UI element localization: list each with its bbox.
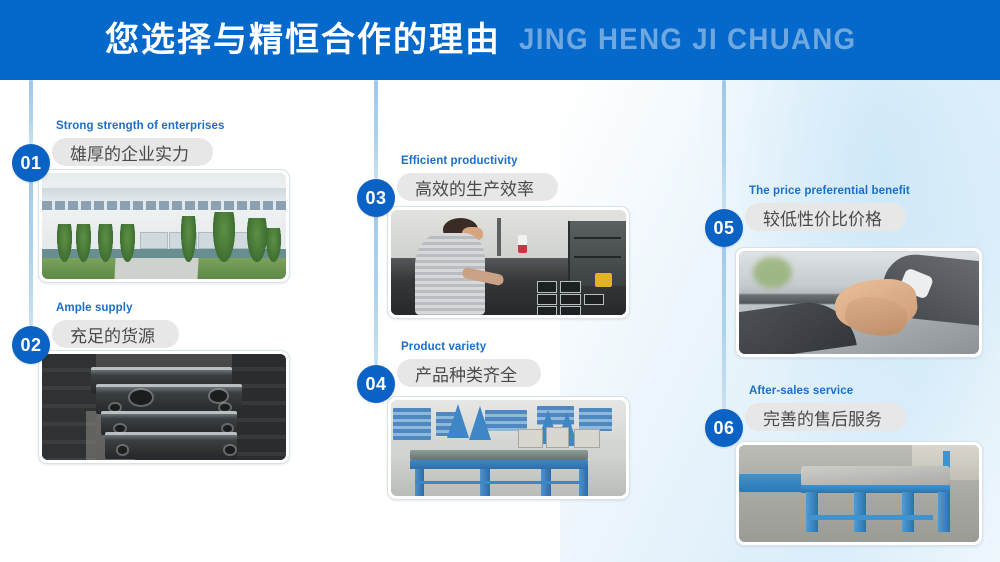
feature-photo-06[interactable] <box>735 441 983 546</box>
feature-english-label-01: Strong strength of enterprises <box>56 120 225 132</box>
feature-photo-02[interactable] <box>38 350 290 464</box>
connector-rail-column-2 <box>374 80 378 179</box>
feature-photo-01[interactable] <box>38 169 290 283</box>
feature-number-badge-01: 01 <box>12 144 50 182</box>
feature-number-badge-05: 05 <box>705 209 743 247</box>
feature-chinese-label-01: 雄厚的企业实力 <box>52 138 213 166</box>
banner-title-english: JING HENG JI CHUANG <box>519 25 857 55</box>
header-banner: 您选择与精恒合作的理由 JING HENG JI CHUANG <box>0 0 1000 80</box>
feature-photo-05[interactable] <box>735 247 983 358</box>
factory-building-photo <box>42 173 286 279</box>
feature-number-badge-02: 02 <box>12 326 50 364</box>
header-banner-content: 您选择与精恒合作的理由 JING HENG JI CHUANG <box>105 0 886 80</box>
feature-chinese-label-04: 产品种类齐全 <box>397 359 541 387</box>
blue-steel-work-table-photo <box>739 445 979 542</box>
worker-at-workbench-photo <box>391 210 626 315</box>
cast-iron-platforms-warehouse-photo <box>391 400 626 496</box>
feature-english-label-03: Efficient productivity <box>401 155 518 167</box>
granite-machine-bases-photo <box>42 354 286 460</box>
promo-page: 您选择与精恒合作的理由 JING HENG JI CHUANG 01 Stron… <box>0 0 1000 562</box>
feature-number-badge-03: 03 <box>357 179 395 217</box>
feature-chinese-label-02: 充足的货源 <box>52 320 179 348</box>
connector-rail-column-3 <box>722 80 726 209</box>
feature-english-label-02: Ample supply <box>56 302 133 314</box>
connector-rail-column-1 <box>29 80 33 144</box>
business-handshake-photo <box>739 251 979 354</box>
feature-chinese-label-03: 高效的生产效率 <box>397 173 558 201</box>
feature-english-label-04: Product variety <box>401 341 486 353</box>
banner-title-chinese: 您选择与精恒合作的理由 <box>105 23 501 57</box>
feature-number-badge-04: 04 <box>357 365 395 403</box>
feature-chinese-label-06: 完善的售后服务 <box>745 403 906 431</box>
feature-photo-04[interactable] <box>387 396 630 500</box>
feature-english-label-05: The price preferential benefit <box>749 185 910 197</box>
feature-chinese-label-05: 较低性价比价格 <box>745 203 906 231</box>
feature-number-badge-06: 06 <box>705 409 743 447</box>
feature-photo-03[interactable] <box>387 206 630 319</box>
feature-english-label-06: After-sales service <box>749 385 853 397</box>
